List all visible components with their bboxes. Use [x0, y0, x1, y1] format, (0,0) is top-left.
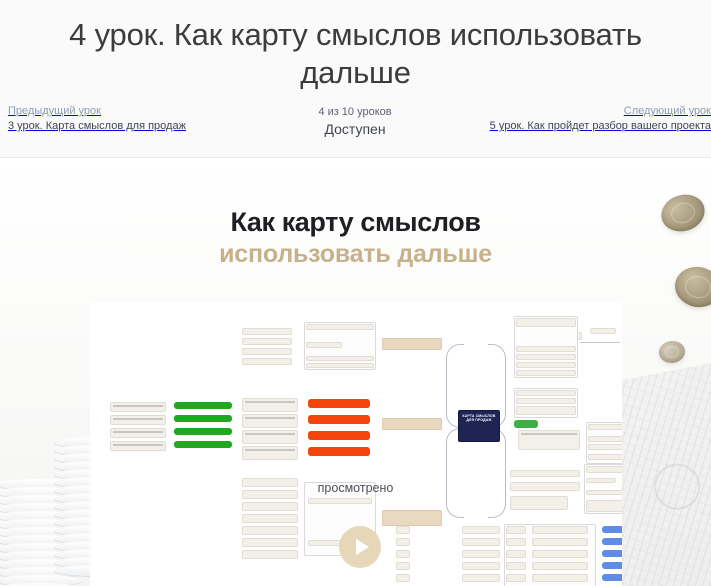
mindmap-node	[242, 550, 298, 559]
play-button[interactable]	[339, 526, 381, 568]
mindmap-bar-red	[308, 447, 370, 456]
lesson-header: 4 урок. Как карту смыслов использовать д…	[0, 0, 711, 158]
lesson-page: 4 урок. Как карту смыслов использовать д…	[0, 0, 711, 586]
mindmap-node	[396, 550, 410, 558]
mindmap-node	[532, 574, 588, 582]
mindmap-node	[242, 526, 298, 535]
next-lesson-link[interactable]: Следующий урок 5 урок. Как пройдет разбо…	[481, 104, 711, 134]
mindmap-node	[516, 390, 576, 396]
mindmap-node-tan	[382, 338, 442, 350]
mindmap-bar-blue	[602, 574, 622, 581]
mindmap-node	[242, 430, 298, 444]
lesson-navigation: Предыдущий урок 3 урок. Карта смыслов дл…	[0, 104, 711, 158]
mindmap-node	[506, 550, 526, 558]
previous-lesson-kicker: Предыдущий урок	[8, 104, 218, 119]
mindmap-node	[516, 346, 576, 352]
mindmap-bar-blue	[602, 538, 622, 545]
mindmap-node	[506, 574, 526, 582]
mindmap-node	[242, 446, 298, 460]
mindmap-node-tan	[382, 418, 442, 430]
mindmap-node	[242, 338, 292, 345]
mindmap-node	[110, 415, 166, 425]
slide-title-line-2: использовать дальше	[0, 239, 711, 269]
mindmap-node	[396, 538, 410, 546]
mindmap-node	[532, 562, 588, 570]
mindmap-node	[532, 538, 588, 546]
mindmap-center-node: КАРТА СМЫСЛОВ ДЛЯ ПРОДАЖ	[458, 410, 500, 442]
mindmap-bar-blue	[602, 550, 622, 557]
mindmap-node	[506, 562, 526, 570]
mindmap-node	[308, 498, 372, 504]
slide-title: Как карту смыслов использовать дальше	[0, 207, 711, 269]
mindmap-node	[306, 342, 342, 348]
mindmap-node	[590, 328, 616, 334]
mindmap-node	[518, 430, 580, 450]
mindmap-node	[242, 348, 292, 355]
mindmap-node	[242, 358, 292, 365]
mindmap-node	[532, 526, 588, 534]
mindmap-bar-blue	[602, 562, 622, 569]
mindmap-node	[396, 526, 410, 534]
mindmap-node	[242, 502, 298, 511]
mindmap-node	[396, 574, 410, 582]
previous-lesson-title: 3 урок. Карта смыслов для продаж	[8, 119, 218, 134]
mindmap-node	[588, 454, 622, 460]
mindmap-bar-green	[174, 428, 232, 435]
mindmap-node	[506, 526, 526, 534]
mindmap-node	[110, 441, 166, 451]
mindmap-node	[516, 362, 576, 368]
mindmap-node	[462, 550, 500, 558]
mindmap-node	[306, 356, 374, 361]
mindmap-bar-red	[308, 431, 370, 440]
mindmap-node	[242, 328, 292, 335]
mindmap-connector	[580, 342, 620, 343]
mindmap-node	[588, 436, 622, 442]
page-title: 4 урок. Как карту смыслов использовать д…	[0, 16, 711, 92]
mindmap-node	[510, 496, 568, 510]
mindmap-bar-blue	[602, 526, 622, 533]
mindmap-node	[516, 398, 576, 404]
status-badge: Доступен	[255, 120, 455, 138]
play-icon	[356, 539, 369, 555]
lesson-count: 4 из 10 уроков	[255, 104, 455, 120]
mindmap-node	[242, 538, 298, 547]
mindmap-node	[516, 354, 576, 360]
mindmap-node	[306, 324, 374, 330]
mindmap-node	[532, 550, 588, 558]
mindmap-node	[242, 514, 298, 523]
mindmap-bar-green	[174, 402, 232, 409]
mindmap-node	[110, 428, 166, 438]
viewed-label: просмотрено	[0, 481, 711, 495]
mindmap-node	[506, 538, 526, 546]
mindmap-node	[306, 363, 374, 368]
mindmap-node	[462, 574, 500, 582]
mindmap-node	[396, 562, 410, 570]
mindmap-node-tan	[382, 510, 442, 526]
mindmap-node	[516, 406, 576, 415]
video-player[interactable]: Как карту смыслов использовать дальше	[0, 159, 711, 586]
mindmap-node	[516, 318, 576, 327]
previous-lesson-link[interactable]: Предыдущий урок 3 урок. Карта смыслов дл…	[8, 104, 218, 134]
mindmap-bar-green	[174, 415, 232, 422]
mindmap-bar-red	[308, 399, 370, 408]
mindmap-node	[462, 526, 500, 534]
mindmap-node	[462, 562, 500, 570]
next-lesson-kicker: Следующий урок	[481, 104, 711, 119]
mindmap-node	[588, 444, 622, 450]
mindmap-node	[242, 414, 298, 428]
lesson-progress: 4 из 10 уроков Доступен	[255, 104, 455, 138]
mindmap-node	[462, 538, 500, 546]
mindmap-node	[586, 500, 622, 512]
mindmap-node	[242, 398, 298, 412]
mindmap-chip-green	[514, 420, 538, 428]
mindmap-node	[510, 470, 580, 477]
next-lesson-title: 5 урок. Как пройдет разбор вашего проект…	[481, 119, 711, 134]
mindmap-bar-green	[174, 441, 232, 448]
mindmap-node	[110, 402, 166, 412]
mindmap-node	[586, 466, 622, 473]
slide-title-line-1: Как карту смыслов	[0, 207, 711, 237]
mindmap-bar-red	[308, 415, 370, 424]
mindmap-node	[516, 370, 576, 376]
mindmap-node	[588, 424, 622, 430]
